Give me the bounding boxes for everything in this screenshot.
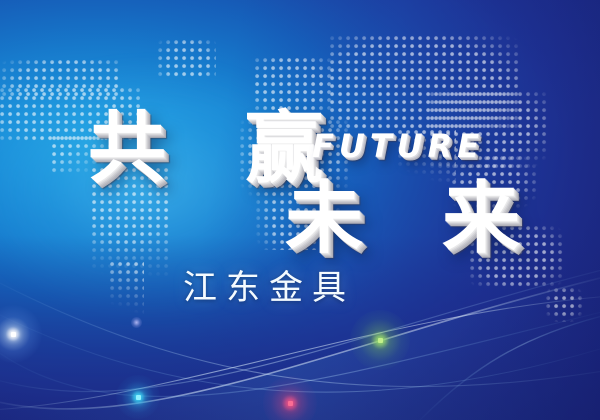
vignette-overlay: [0, 0, 600, 420]
promo-banner: 共 赢 FUTURE 未 来 江东金具: [0, 0, 600, 420]
